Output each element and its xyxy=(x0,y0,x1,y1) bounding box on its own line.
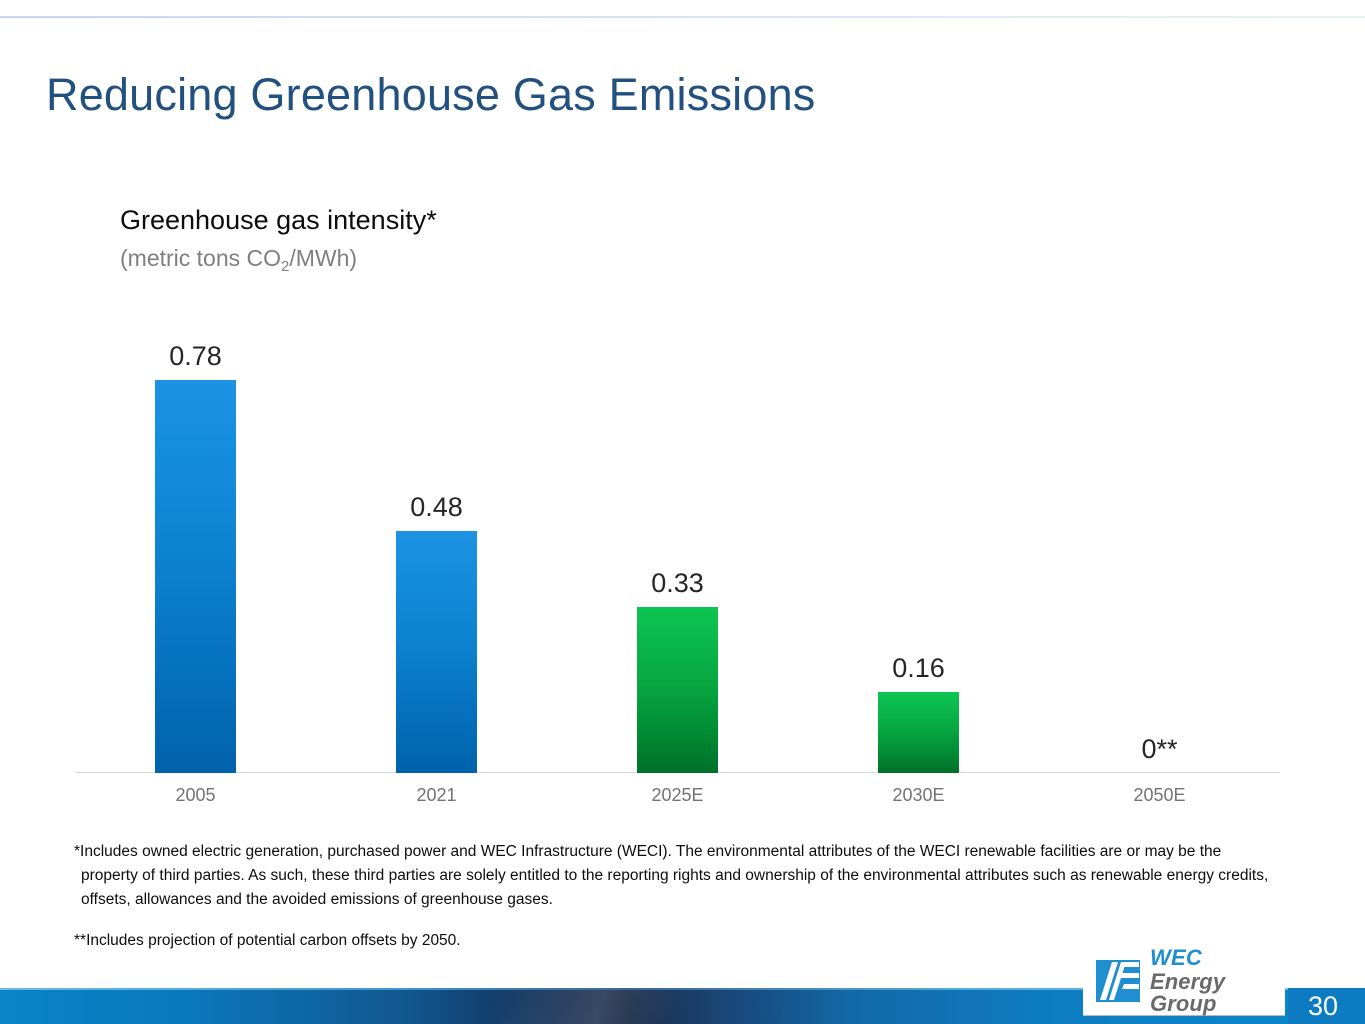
top-accent-banner xyxy=(0,0,1365,16)
chart-subheading-suffix: /MWh) xyxy=(289,245,357,271)
x-axis-tick-label: 2021 xyxy=(316,784,557,806)
bar-slot: 0.16 xyxy=(798,330,1039,773)
bar-group: 0** xyxy=(1039,330,1280,773)
bar-slot: 0** xyxy=(1039,330,1280,773)
bar-2025E[interactable] xyxy=(637,607,718,773)
chart-subheading-prefix: (metric tons CO xyxy=(120,245,281,271)
top-accent-banner-edge xyxy=(0,16,1365,18)
wec-energy-group-logo: WEC Energy Group xyxy=(1083,947,1285,1015)
footnote: *Includes owned electric generation, pur… xyxy=(74,840,1274,912)
chart-heading: Greenhouse gas intensity* xyxy=(120,203,437,237)
bar-group: 0.33 xyxy=(557,330,798,773)
bar-group: 0.16 xyxy=(798,330,1039,773)
chart-subheading-subscript: 2 xyxy=(281,258,289,275)
bar-value-label: 0.48 xyxy=(410,492,463,522)
wec-logo-wordmark: WEC Energy Group xyxy=(1150,947,1285,1015)
bar-2021[interactable] xyxy=(396,531,477,773)
bar-group: 0.78 xyxy=(75,330,316,773)
bar-value-label: 0.33 xyxy=(651,568,704,598)
wec-logo-secondary-text: Energy Group xyxy=(1150,971,1285,1015)
bar-value-label: 0.78 xyxy=(169,341,222,371)
x-axis-tick-label: 2050E xyxy=(1039,784,1280,806)
bar-chart: 0.7820050.4820210.332025E0.162030E0**205… xyxy=(75,330,1280,820)
bar-slot: 0.78 xyxy=(75,330,316,773)
x-axis-tick-label: 2005 xyxy=(75,784,316,806)
page-title: Reducing Greenhouse Gas Emissions xyxy=(46,66,1146,124)
x-axis-tick-label: 2030E xyxy=(798,784,1039,806)
wec-logo-mark-icon xyxy=(1095,959,1141,1003)
bar-value-label: 0.16 xyxy=(892,653,945,683)
footnotes-block: *Includes owned electric generation, pur… xyxy=(74,840,1274,953)
x-axis-tick-label: 2025E xyxy=(557,784,798,806)
wec-logo-primary-text: WEC xyxy=(1150,947,1285,969)
bar-slot: 0.48 xyxy=(316,330,557,773)
bar-slot: 0.33 xyxy=(557,330,798,773)
chart-subheading: (metric tons CO2/MWh) xyxy=(120,243,357,277)
bar-2030E[interactable] xyxy=(878,692,959,773)
bar-group: 0.48 xyxy=(316,330,557,773)
bar-2005[interactable] xyxy=(155,380,236,773)
bar-value-label: 0** xyxy=(1141,734,1177,764)
page-number: 30 xyxy=(1288,988,1365,1024)
